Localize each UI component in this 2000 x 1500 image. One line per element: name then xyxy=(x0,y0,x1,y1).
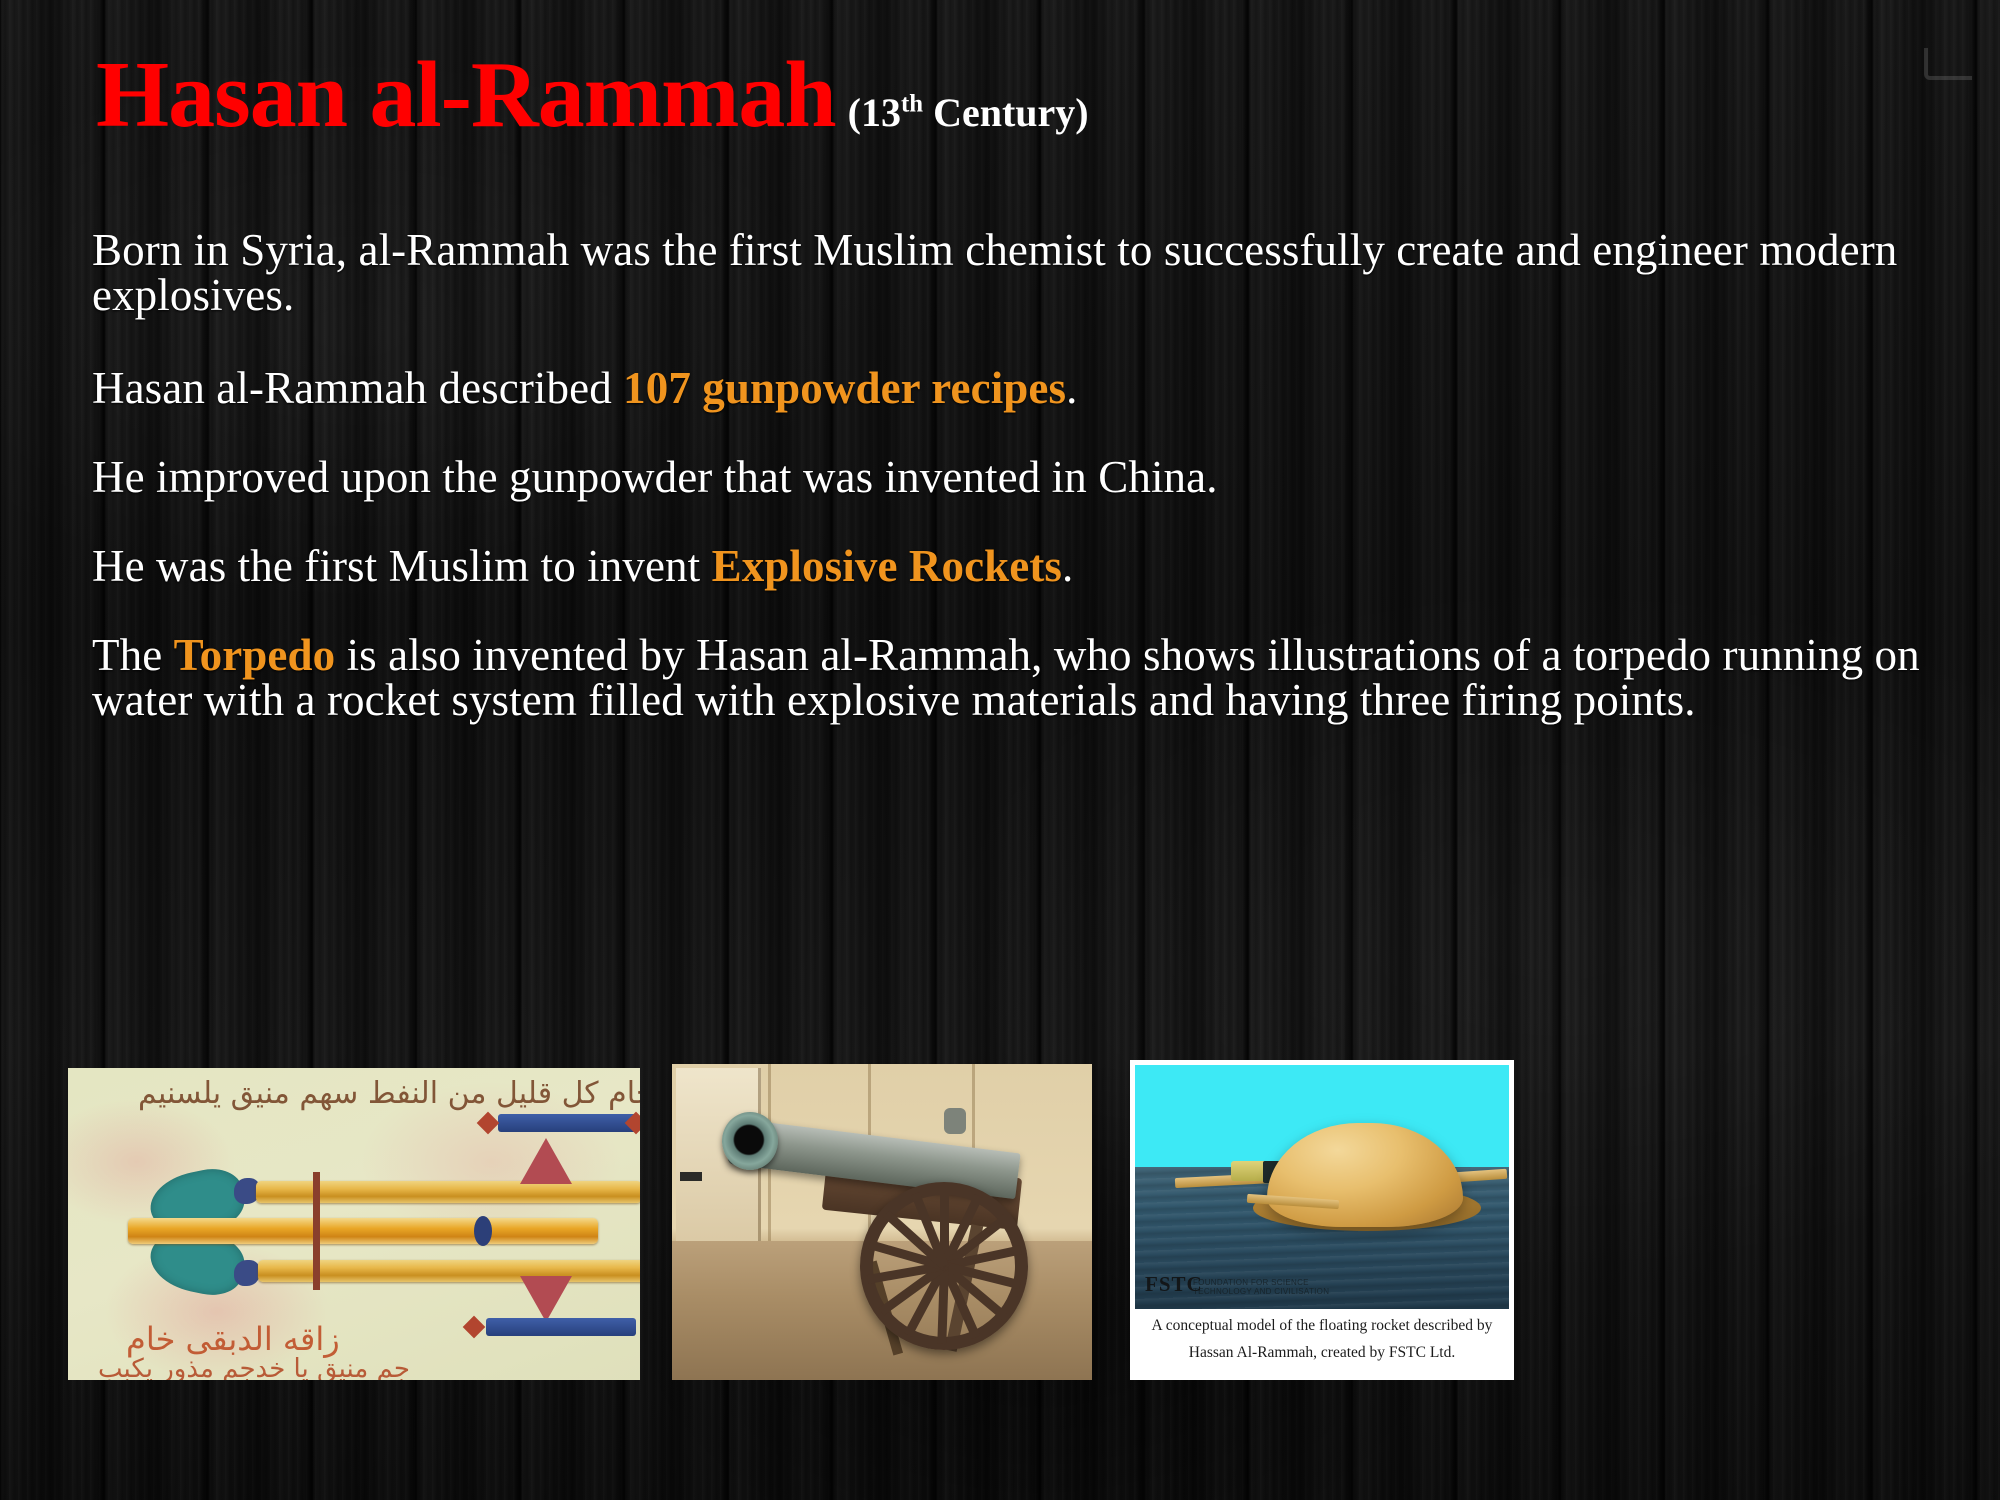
rocket-caption: A conceptual model of the floating rocke… xyxy=(1135,1312,1509,1366)
corner-artifact-icon xyxy=(1924,48,1972,80)
paragraph-3-text: He improved upon the gunpowder that was … xyxy=(92,452,1218,502)
image-manuscript-torpedo: بطم خام كل قليل من النفط سهم منيق يلسنيم… xyxy=(68,1068,640,1380)
rocket-scene: FSTC FOUNDATION FOR SCIENCE TECHNOLOGY A… xyxy=(1135,1065,1509,1309)
cannon-wall-latch xyxy=(680,1172,702,1181)
slide-canvas: Hasan al-Rammah(13th Century) Born in Sy… xyxy=(0,0,2000,1500)
highlight-torpedo: Torpedo xyxy=(174,630,336,680)
slide-title: Hasan al-Rammah(13th Century) xyxy=(96,48,1089,142)
title-century-text: (13th Century) xyxy=(848,90,1089,135)
manuscript-blue-bar-upper xyxy=(498,1114,638,1132)
paragraph-5-lead: The xyxy=(92,630,174,680)
manuscript-fin-lower xyxy=(520,1276,572,1322)
title-century-close: Century) xyxy=(923,90,1089,135)
paragraph-improved-china: He improved upon the gunpowder that was … xyxy=(92,455,1922,500)
paragraph-1-text: Born in Syria, al-Rammah was the first M… xyxy=(92,225,1897,320)
manuscript-arabic-bottom: زاقه الدبقى خام xyxy=(126,1320,340,1358)
paragraph-2-tail: . xyxy=(1066,363,1077,413)
paragraph-4-lead: He was the first Muslim to invent xyxy=(92,541,712,591)
cannon-muzzle xyxy=(722,1112,778,1170)
paragraph-born-in-syria: Born in Syria, al-Rammah was the first M… xyxy=(92,228,1922,318)
manuscript-fin-upper xyxy=(520,1138,572,1184)
image-floating-rocket-model: FSTC FOUNDATION FOR SCIENCE TECHNOLOGY A… xyxy=(1130,1060,1514,1380)
manuscript-cross-strut xyxy=(313,1172,320,1290)
rocket-caption-line-1: A conceptual model of the floating rocke… xyxy=(1152,1317,1493,1334)
manuscript-warhead-lower xyxy=(234,1260,260,1286)
image-historic-cannon xyxy=(672,1064,1092,1380)
manuscript-blue-bar-lower xyxy=(486,1318,636,1336)
title-century-open: (13 xyxy=(848,90,901,135)
paragraph-2-lead: Hasan al-Rammah described xyxy=(92,363,623,413)
highlight-107-gunpowder-recipes: 107 gunpowder recipes xyxy=(623,363,1066,413)
paragraph-explosive-rockets: He was the first Muslim to invent Explos… xyxy=(92,544,1922,589)
rocket-caption-line-2: Hassan Al-Rammah, created by FSTC Ltd. xyxy=(1189,1344,1455,1361)
paragraph-4-tail: . xyxy=(1062,541,1073,591)
manuscript-diamond-1 xyxy=(477,1112,500,1135)
title-main-text: Hasan al-Rammah xyxy=(96,43,836,147)
title-century-ordinal: th xyxy=(901,91,923,118)
manuscript-arabic-bottom-2: جم منيق يا خدجم مذور يكبب xyxy=(98,1354,410,1380)
slide-body: Born in Syria, al-Rammah was the first M… xyxy=(92,228,1922,723)
manuscript-diamond-3 xyxy=(463,1316,486,1339)
manuscript-rocket-tube-center xyxy=(128,1218,598,1244)
paragraph-5-tail: is also invented by Hasan al-Rammah, who… xyxy=(92,630,1920,725)
manuscript-arabic-top: بطم خام كل قليل من النفط سهم منيق يلسنيم xyxy=(138,1076,640,1111)
fstc-watermark-subtitle: FOUNDATION FOR SCIENCE TECHNOLOGY AND CI… xyxy=(1193,1278,1343,1296)
paragraph-gunpowder-recipes: Hasan al-Rammah described 107 gunpowder … xyxy=(92,366,1922,411)
paragraph-torpedo: The Torpedo is also invented by Hasan al… xyxy=(92,633,1922,723)
highlight-explosive-rockets: Explosive Rockets xyxy=(712,541,1062,591)
cannon-wheel xyxy=(860,1182,1028,1350)
cannon-cascabel xyxy=(944,1108,966,1134)
manuscript-coupling-ring xyxy=(474,1216,492,1246)
